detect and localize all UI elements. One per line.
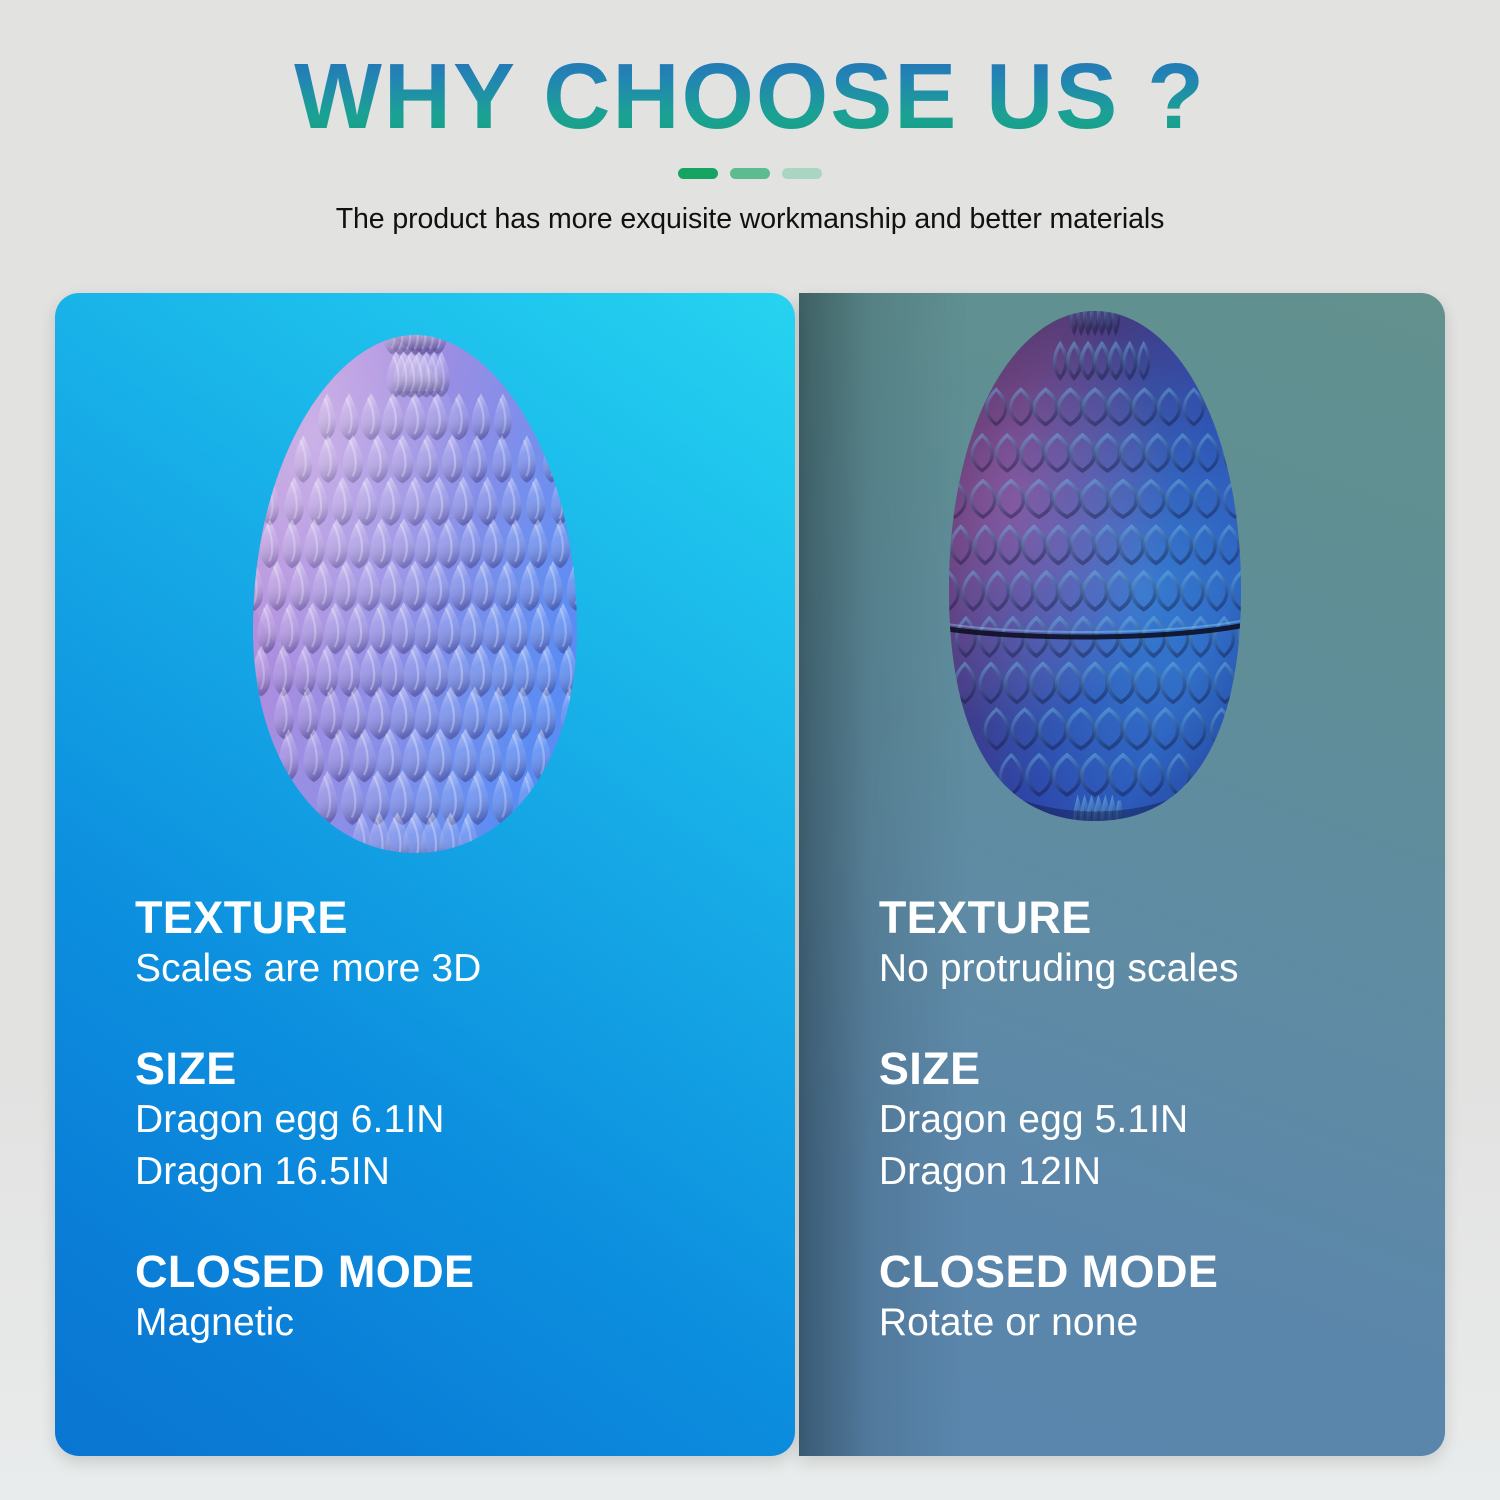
spec-line: Dragon 16.5IN — [135, 1146, 771, 1198]
divider-dash-3 — [782, 168, 822, 179]
spec-block-size: SIZE Dragon egg 5.1IN Dragon 12IN — [879, 1044, 1421, 1199]
divider-dash-2 — [730, 168, 770, 179]
spec-line: Dragon egg 6.1IN — [135, 1094, 771, 1146]
spec-title: TEXTURE — [879, 893, 1421, 943]
divider-dash-1 — [678, 168, 718, 179]
spec-line: Scales are more 3D — [135, 943, 771, 995]
product-image-other-product — [799, 293, 1445, 883]
spec-list-our-product: TEXTURE Scales are more 3D SIZE Dragon e… — [135, 893, 771, 1349]
product-image-our-product — [55, 293, 795, 883]
spec-block-closed-mode: CLOSED MODE Rotate or none — [879, 1247, 1421, 1350]
spec-list-other-product: TEXTURE No protruding scales SIZE Dragon… — [879, 893, 1421, 1349]
page-title: WHY CHOOSE US ? — [0, 0, 1500, 146]
spec-title: CLOSED MODE — [879, 1247, 1421, 1297]
page-header: WHY CHOOSE US ? The product has more exq… — [0, 0, 1500, 290]
spec-line: Dragon egg 5.1IN — [879, 1094, 1421, 1146]
spec-line: Rotate or none — [879, 1297, 1421, 1349]
spec-line: No protruding scales — [879, 943, 1421, 995]
spec-line: Dragon 12IN — [879, 1146, 1421, 1198]
divider-dashes — [0, 168, 1500, 179]
spec-title: TEXTURE — [135, 893, 771, 943]
dragon-egg-protruding-scales-icon — [205, 329, 625, 869]
spec-line: Magnetic — [135, 1297, 771, 1349]
dragon-egg-flat-scales-icon — [895, 301, 1295, 861]
spec-block-closed-mode: CLOSED MODE Magnetic — [135, 1247, 771, 1350]
spec-block-texture: TEXTURE No protruding scales — [879, 893, 1421, 996]
comparison-cards: TEXTURE Scales are more 3D SIZE Dragon e… — [55, 293, 1445, 1456]
spec-title: SIZE — [879, 1044, 1421, 1094]
spec-block-size: SIZE Dragon egg 6.1IN Dragon 16.5IN — [135, 1044, 771, 1199]
page-subtitle: The product has more exquisite workmansh… — [0, 179, 1500, 236]
spec-title: CLOSED MODE — [135, 1247, 771, 1297]
product-card-other-product: TEXTURE No protruding scales SIZE Dragon… — [799, 293, 1445, 1456]
product-card-our-product: TEXTURE Scales are more 3D SIZE Dragon e… — [55, 293, 795, 1456]
spec-title: SIZE — [135, 1044, 771, 1094]
spec-block-texture: TEXTURE Scales are more 3D — [135, 893, 771, 996]
